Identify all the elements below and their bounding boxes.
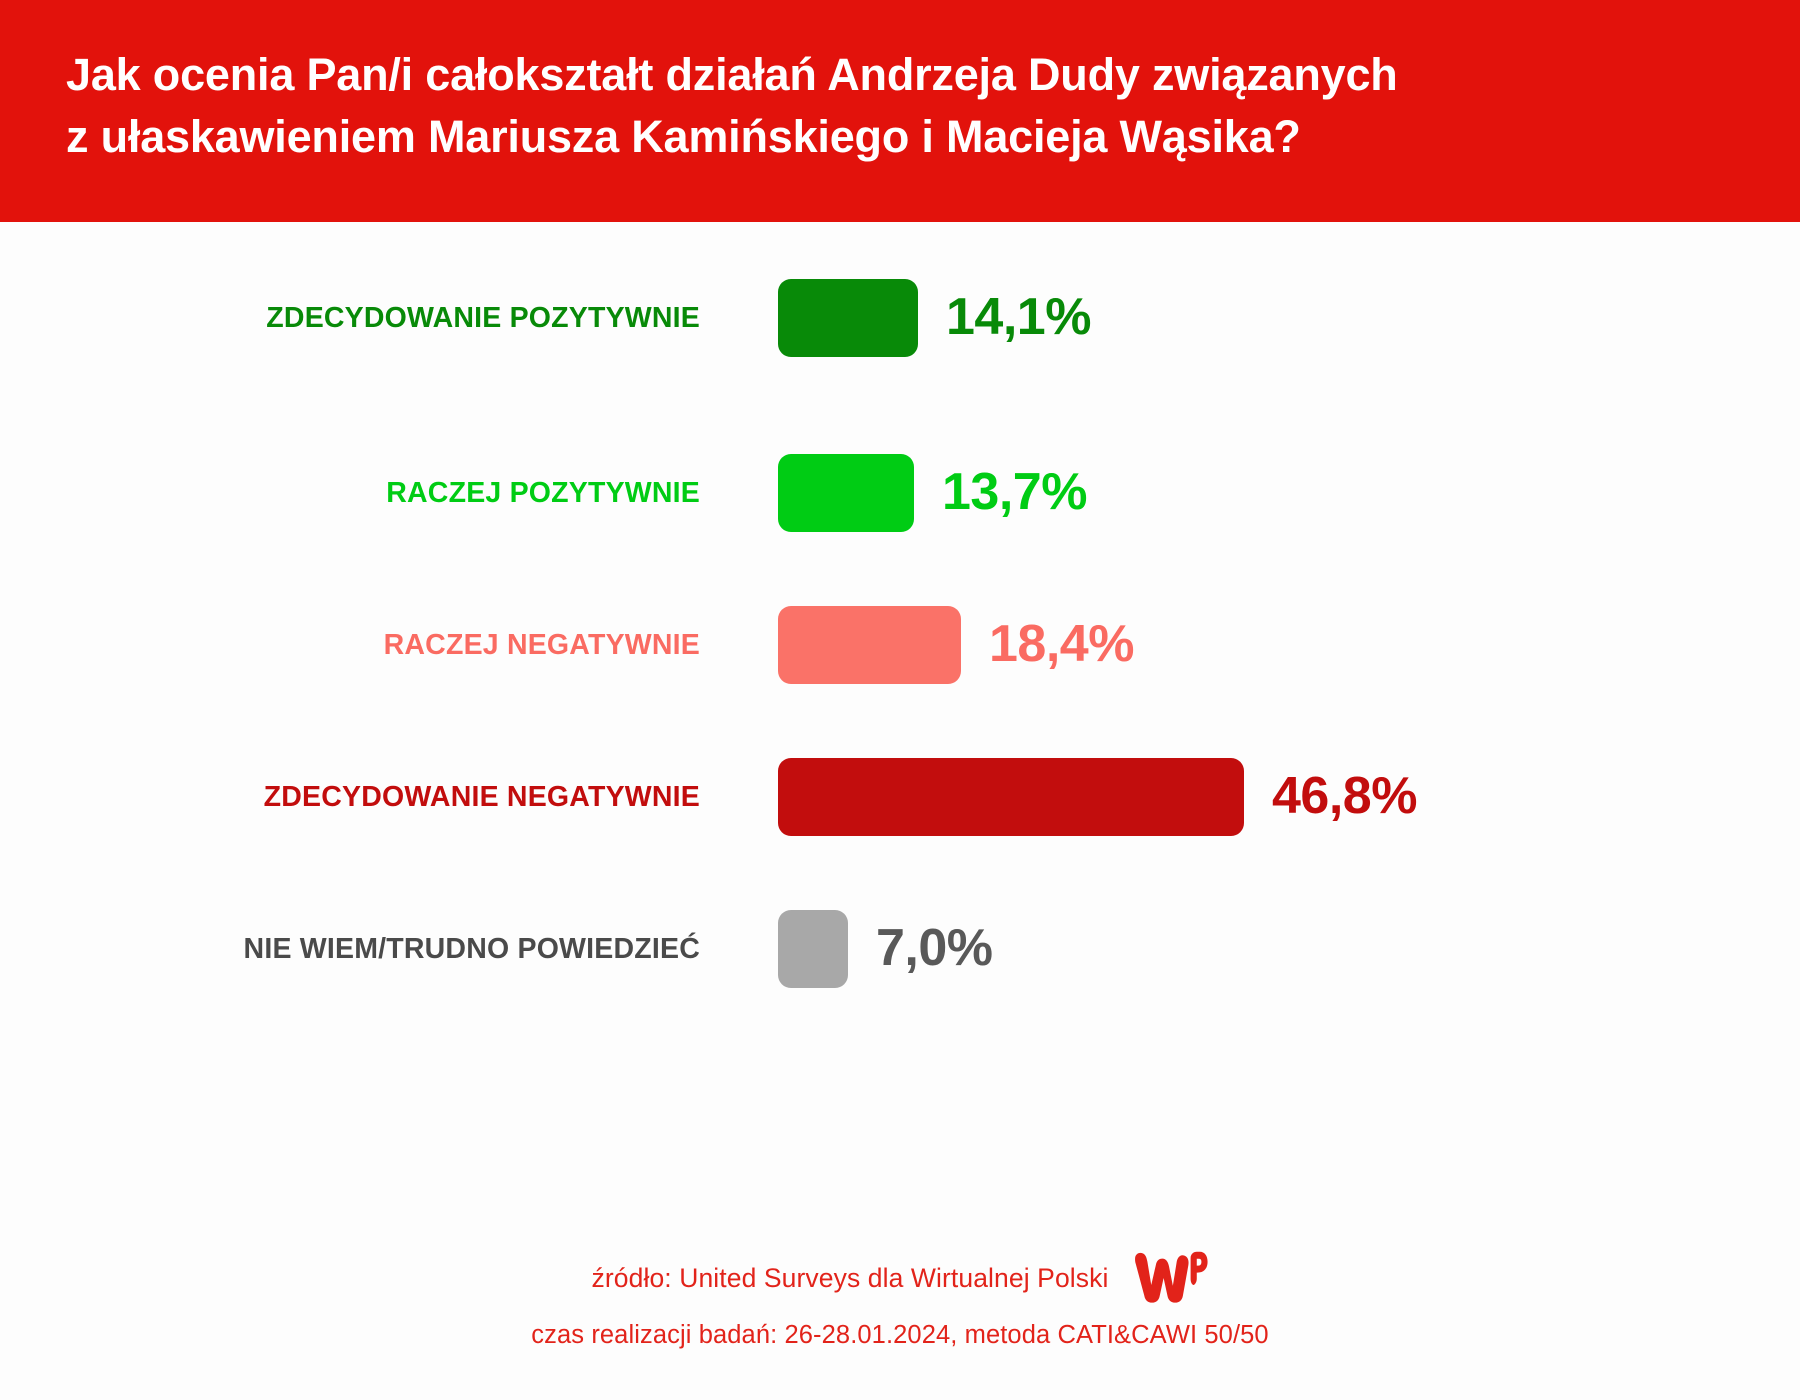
footer-method-text: czas realizacji badań: 26-28.01.2024, me… xyxy=(0,1321,1800,1350)
row-label-nie-wiem: NIE WIEM/TRUDNO POWIEDZIEĆ xyxy=(0,933,700,966)
infographic-poll-chart: Jak ocenia Pan/i całokształt działań And… xyxy=(0,0,1800,1400)
source-text: źródło: United Surveys dla Wirtualnej Po… xyxy=(592,1263,1109,1294)
value-nie-wiem: 7,0% xyxy=(876,918,993,978)
bar-zdecydowanie-negatywnie xyxy=(778,758,1244,836)
chart-row-zdecydowanie-pozytywnie: ZDECYDOWANIE POZYTYWNIE 14,1% xyxy=(0,274,1800,362)
row-label-raczej-negatywnie: RACZEJ NEGATYWNIE xyxy=(0,629,700,662)
bar-wrap-zdecydowanie-negatywnie: 46,8% xyxy=(778,753,1244,841)
chart-row-raczej-pozytywnie: RACZEJ POZYTYWNIE 13,7% xyxy=(0,449,1800,537)
bar-raczej-pozytywnie xyxy=(778,454,914,532)
bar-chart: ZDECYDOWANIE POZYTYWNIE 14,1% RACZEJ POZ… xyxy=(0,222,1800,1222)
bar-wrap-raczej-pozytywnie: 13,7% xyxy=(778,449,914,537)
chart-row-raczej-negatywnie: RACZEJ NEGATYWNIE 18,4% xyxy=(0,601,1800,689)
page-title: Jak ocenia Pan/i całokształt działań And… xyxy=(66,44,1706,168)
value-raczej-negatywnie: 18,4% xyxy=(989,614,1134,674)
bar-zdecydowanie-pozytywnie xyxy=(778,279,918,357)
value-raczej-pozytywnie: 13,7% xyxy=(942,462,1087,522)
bar-nie-wiem xyxy=(778,910,848,988)
chart-row-zdecydowanie-negatywnie: ZDECYDOWANIE NEGATYWNIE 46,8% xyxy=(0,753,1800,841)
value-zdecydowanie-pozytywnie: 14,1% xyxy=(946,287,1091,347)
row-label-zdecydowanie-pozytywnie: ZDECYDOWANIE POZYTYWNIE xyxy=(0,302,700,335)
footer: źródło: United Surveys dla Wirtualnej Po… xyxy=(0,1245,1800,1350)
row-label-zdecydowanie-negatywnie: ZDECYDOWANIE NEGATYWNIE xyxy=(0,781,700,814)
row-label-raczej-pozytywnie: RACZEJ POZYTYWNIE xyxy=(0,477,700,510)
value-zdecydowanie-negatywnie: 46,8% xyxy=(1272,766,1417,826)
bar-wrap-nie-wiem: 7,0% xyxy=(778,905,848,993)
footer-source-row: źródło: United Surveys dla Wirtualnej Po… xyxy=(0,1245,1800,1311)
bar-raczej-negatywnie xyxy=(778,606,961,684)
bar-wrap-zdecydowanie-pozytywnie: 14,1% xyxy=(778,274,918,362)
bar-wrap-raczej-negatywnie: 18,4% xyxy=(778,601,961,689)
chart-row-nie-wiem: NIE WIEM/TRUDNO POWIEDZIEĆ 7,0% xyxy=(0,905,1800,993)
header-band: Jak ocenia Pan/i całokształt działań And… xyxy=(0,0,1800,222)
wp-logo-icon xyxy=(1130,1251,1208,1305)
